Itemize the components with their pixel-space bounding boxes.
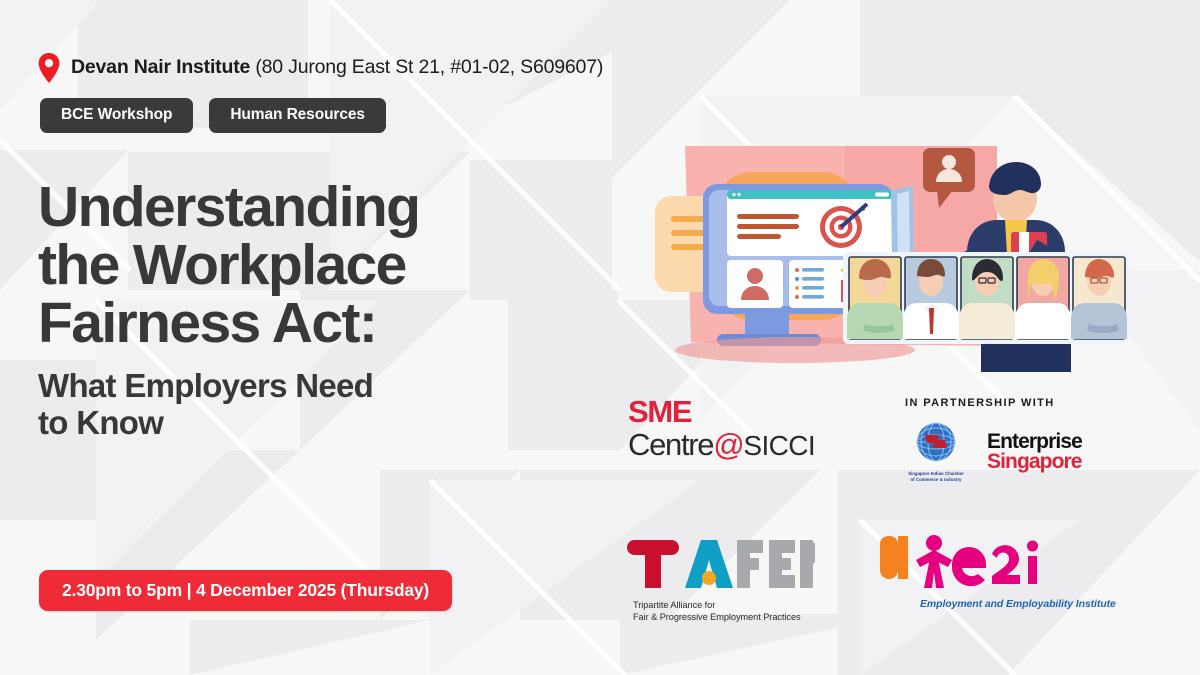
title-block: Understanding the Workplace Fairness Act…: [38, 178, 598, 442]
e2i-logo: Employment and Employability Institute: [872, 534, 1116, 610]
subtitle-line-1: What Employers Need: [38, 368, 598, 405]
venue-row: Devan Nair Institute (80 Jurong East St …: [38, 53, 603, 83]
title-line-3: Fairness Act:: [38, 294, 598, 352]
participant-portrait-grid: [843, 252, 1129, 344]
event-subtitle: What Employers Need to Know: [38, 368, 598, 442]
portrait-card-2: [903, 257, 959, 339]
tag-human-resources[interactable]: Human Resources: [209, 98, 386, 133]
sme-centre-sicci-logo: SME Centre@SICCI: [628, 396, 815, 460]
portrait-card-1: [847, 257, 903, 339]
sme-wordmark: SME: [628, 396, 815, 427]
title-line-1: Understanding: [38, 178, 598, 236]
sme-centre-line: Centre@SICCI: [628, 429, 815, 460]
enterprise-singapore-logo: Enterprise Singapore: [987, 431, 1082, 472]
event-title: Understanding the Workplace Fairness Act…: [38, 178, 598, 352]
partner-logo-row: Singapore Indian Chamber of Commerce & I…: [905, 421, 1082, 483]
location-pin-icon: [38, 53, 60, 83]
at-symbol: @: [713, 427, 743, 462]
sicci-caption-line-2: of Commerce & Industry: [905, 477, 967, 483]
event-banner: Devan Nair Institute (80 Jurong East St …: [0, 0, 1200, 675]
date-time-badge: 2.30pm to 5pm | 4 December 2025 (Thursda…: [39, 570, 452, 611]
partnership-block: IN PARTNERSHIP WITH Singapore Indian Cha…: [905, 398, 1082, 483]
portrait-card-3: [959, 257, 1015, 339]
sicci-caption: Singapore Indian Chamber of Commerce & I…: [905, 471, 967, 483]
tafep-caption: Tripartite Alliance for Fair & Progressi…: [633, 599, 815, 624]
portrait-card-5: [1071, 257, 1127, 339]
singapore-text: Singapore: [987, 451, 1082, 472]
sicci-text: SICCI: [743, 430, 815, 461]
venue-text: Devan Nair Institute (80 Jurong East St …: [71, 58, 603, 78]
sicci-globe-logo: Singapore Indian Chamber of Commerce & I…: [905, 421, 967, 483]
enterprise-text: Enterprise: [987, 431, 1082, 452]
venue-address: (80 Jurong East St 21, #01-02, S609607): [250, 56, 603, 78]
workplace-webinar-illustration: [645, 128, 1145, 373]
tafep-logo: Tripartite Alliance for Fair & Progressi…: [625, 536, 815, 624]
tafep-wordmark: [625, 536, 815, 592]
subtitle-line-2: to Know: [38, 405, 598, 442]
tafep-caption-line-2: Fair & Progressive Employment Practices: [633, 611, 815, 623]
e2i-caption: Employment and Employability Institute: [920, 599, 1116, 610]
tafep-caption-line-1: Tripartite Alliance for: [633, 599, 815, 611]
title-line-2: the Workplace: [38, 236, 598, 294]
centre-text: Centre: [628, 427, 713, 462]
tag-row: BCE Workshop Human Resources: [40, 98, 386, 133]
sicci-caption-line-1: Singapore Indian Chamber: [905, 471, 967, 477]
sicci-globe-icon: [905, 421, 967, 465]
in-partnership-with-label: IN PARTNERSHIP WITH: [905, 398, 1082, 409]
e2i-wordmark: [872, 534, 1072, 592]
tag-bce-workshop[interactable]: BCE Workshop: [40, 98, 193, 133]
portrait-card-4: [1015, 257, 1071, 339]
venue-name: Devan Nair Institute: [71, 56, 250, 78]
